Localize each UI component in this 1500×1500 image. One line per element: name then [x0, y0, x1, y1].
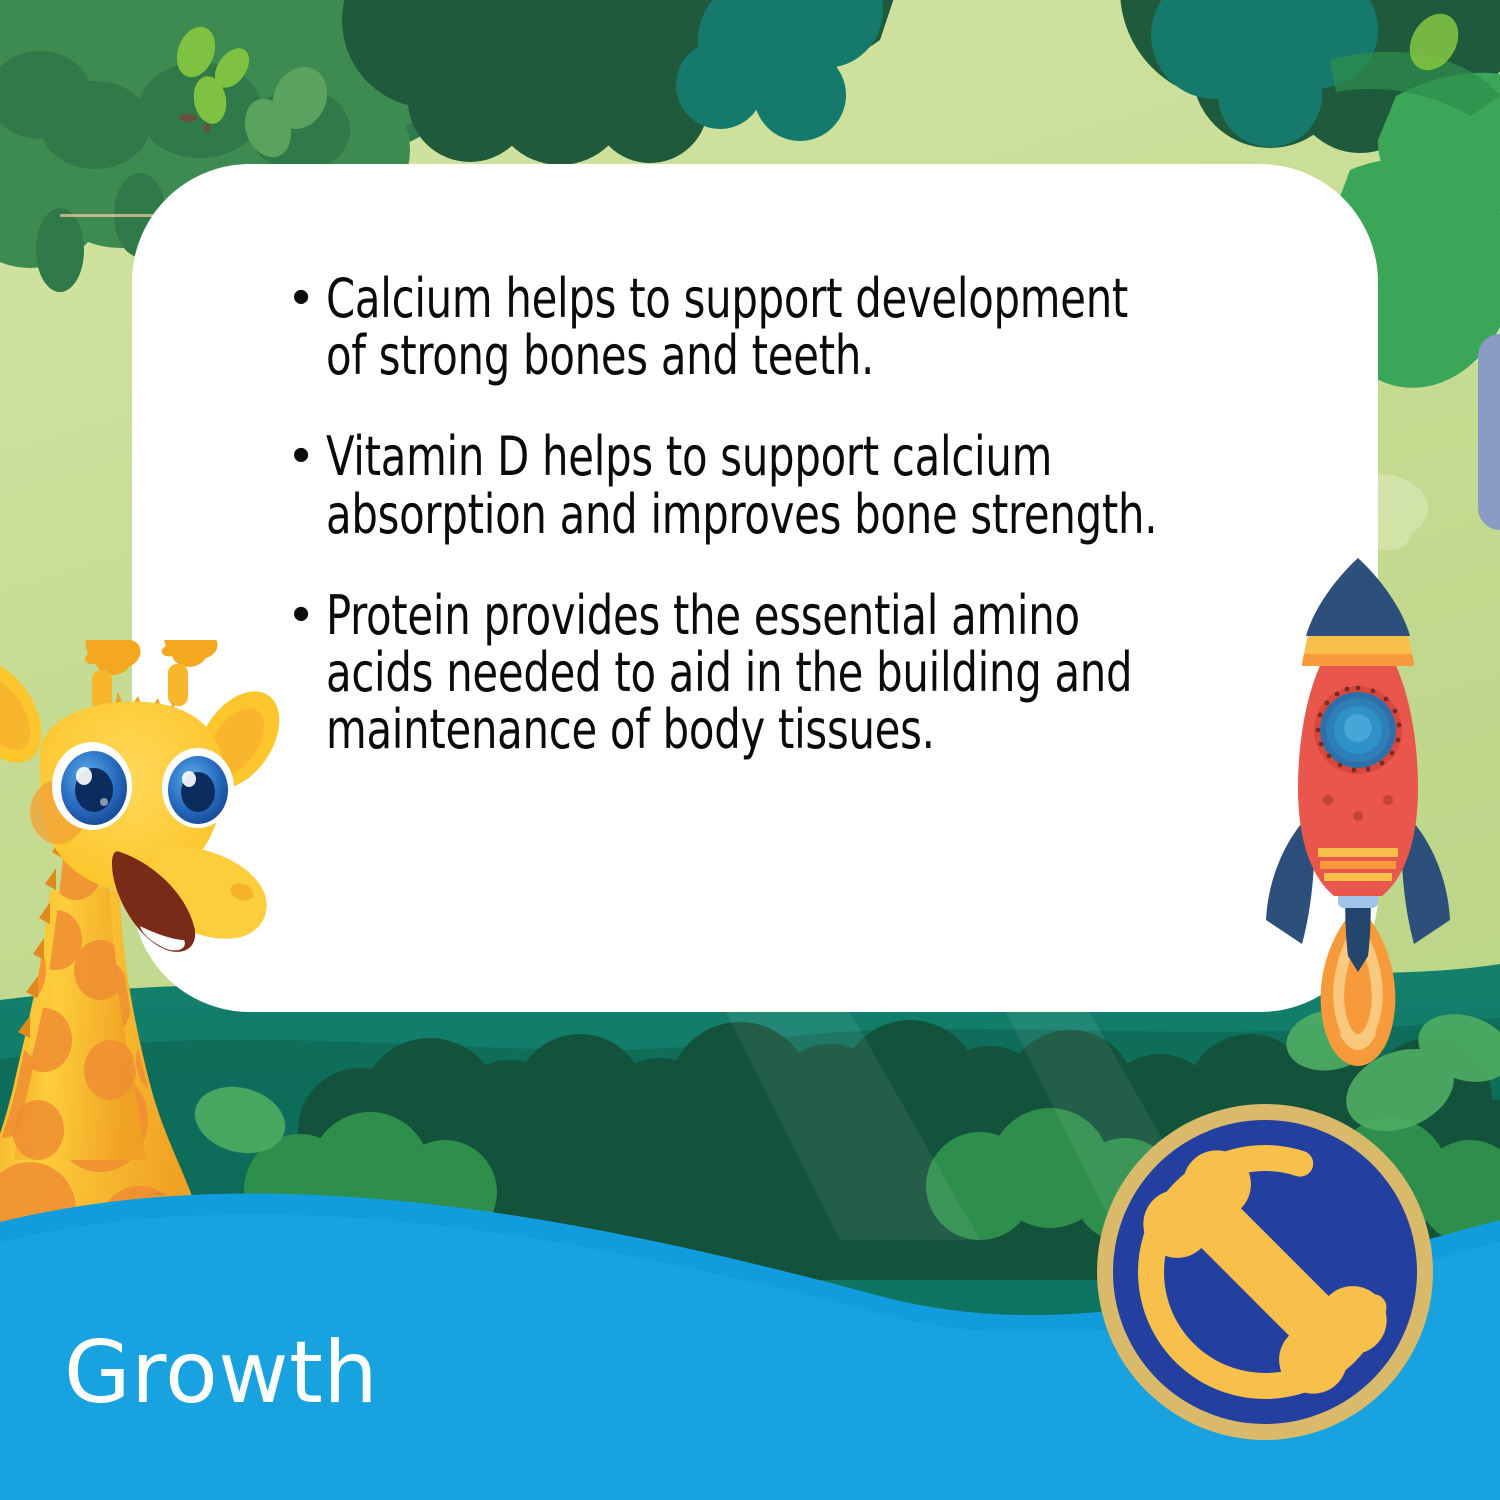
- page-title: Growth: [64, 1330, 378, 1416]
- bullet-text: Vitamin D helps to support calcium absor…: [326, 428, 1174, 542]
- rocket-porthole: [1314, 686, 1402, 774]
- rocket-nose-cone: [1306, 558, 1410, 636]
- bullet-item: • Vitamin D helps to support calcium abs…: [292, 428, 1312, 542]
- bullet-item: • Calcium helps to support development o…: [292, 270, 1312, 384]
- giraffe-eye-left: [52, 742, 132, 830]
- bullet-marker-icon: •: [292, 270, 326, 325]
- growth-badge[interactable]: [1095, 1102, 1435, 1442]
- poster-canvas: • Calcium helps to support development o…: [0, 0, 1500, 1500]
- giraffe-eye-right: [162, 748, 234, 828]
- right-edge-tab: [1478, 334, 1500, 530]
- content-card: • Calcium helps to support development o…: [132, 164, 1378, 1012]
- benefit-bullet-list: • Calcium helps to support development o…: [292, 270, 1312, 759]
- bullet-marker-icon: •: [292, 587, 326, 642]
- bullet-text: Calcium helps to support development of …: [326, 270, 1174, 384]
- bullet-item: • Protein provides the essential amino a…: [292, 587, 1312, 759]
- rocket-illustration: [1258, 548, 1458, 1068]
- bullet-marker-icon: •: [292, 428, 326, 483]
- bullet-text: Protein provides the essential amino aci…: [326, 587, 1174, 759]
